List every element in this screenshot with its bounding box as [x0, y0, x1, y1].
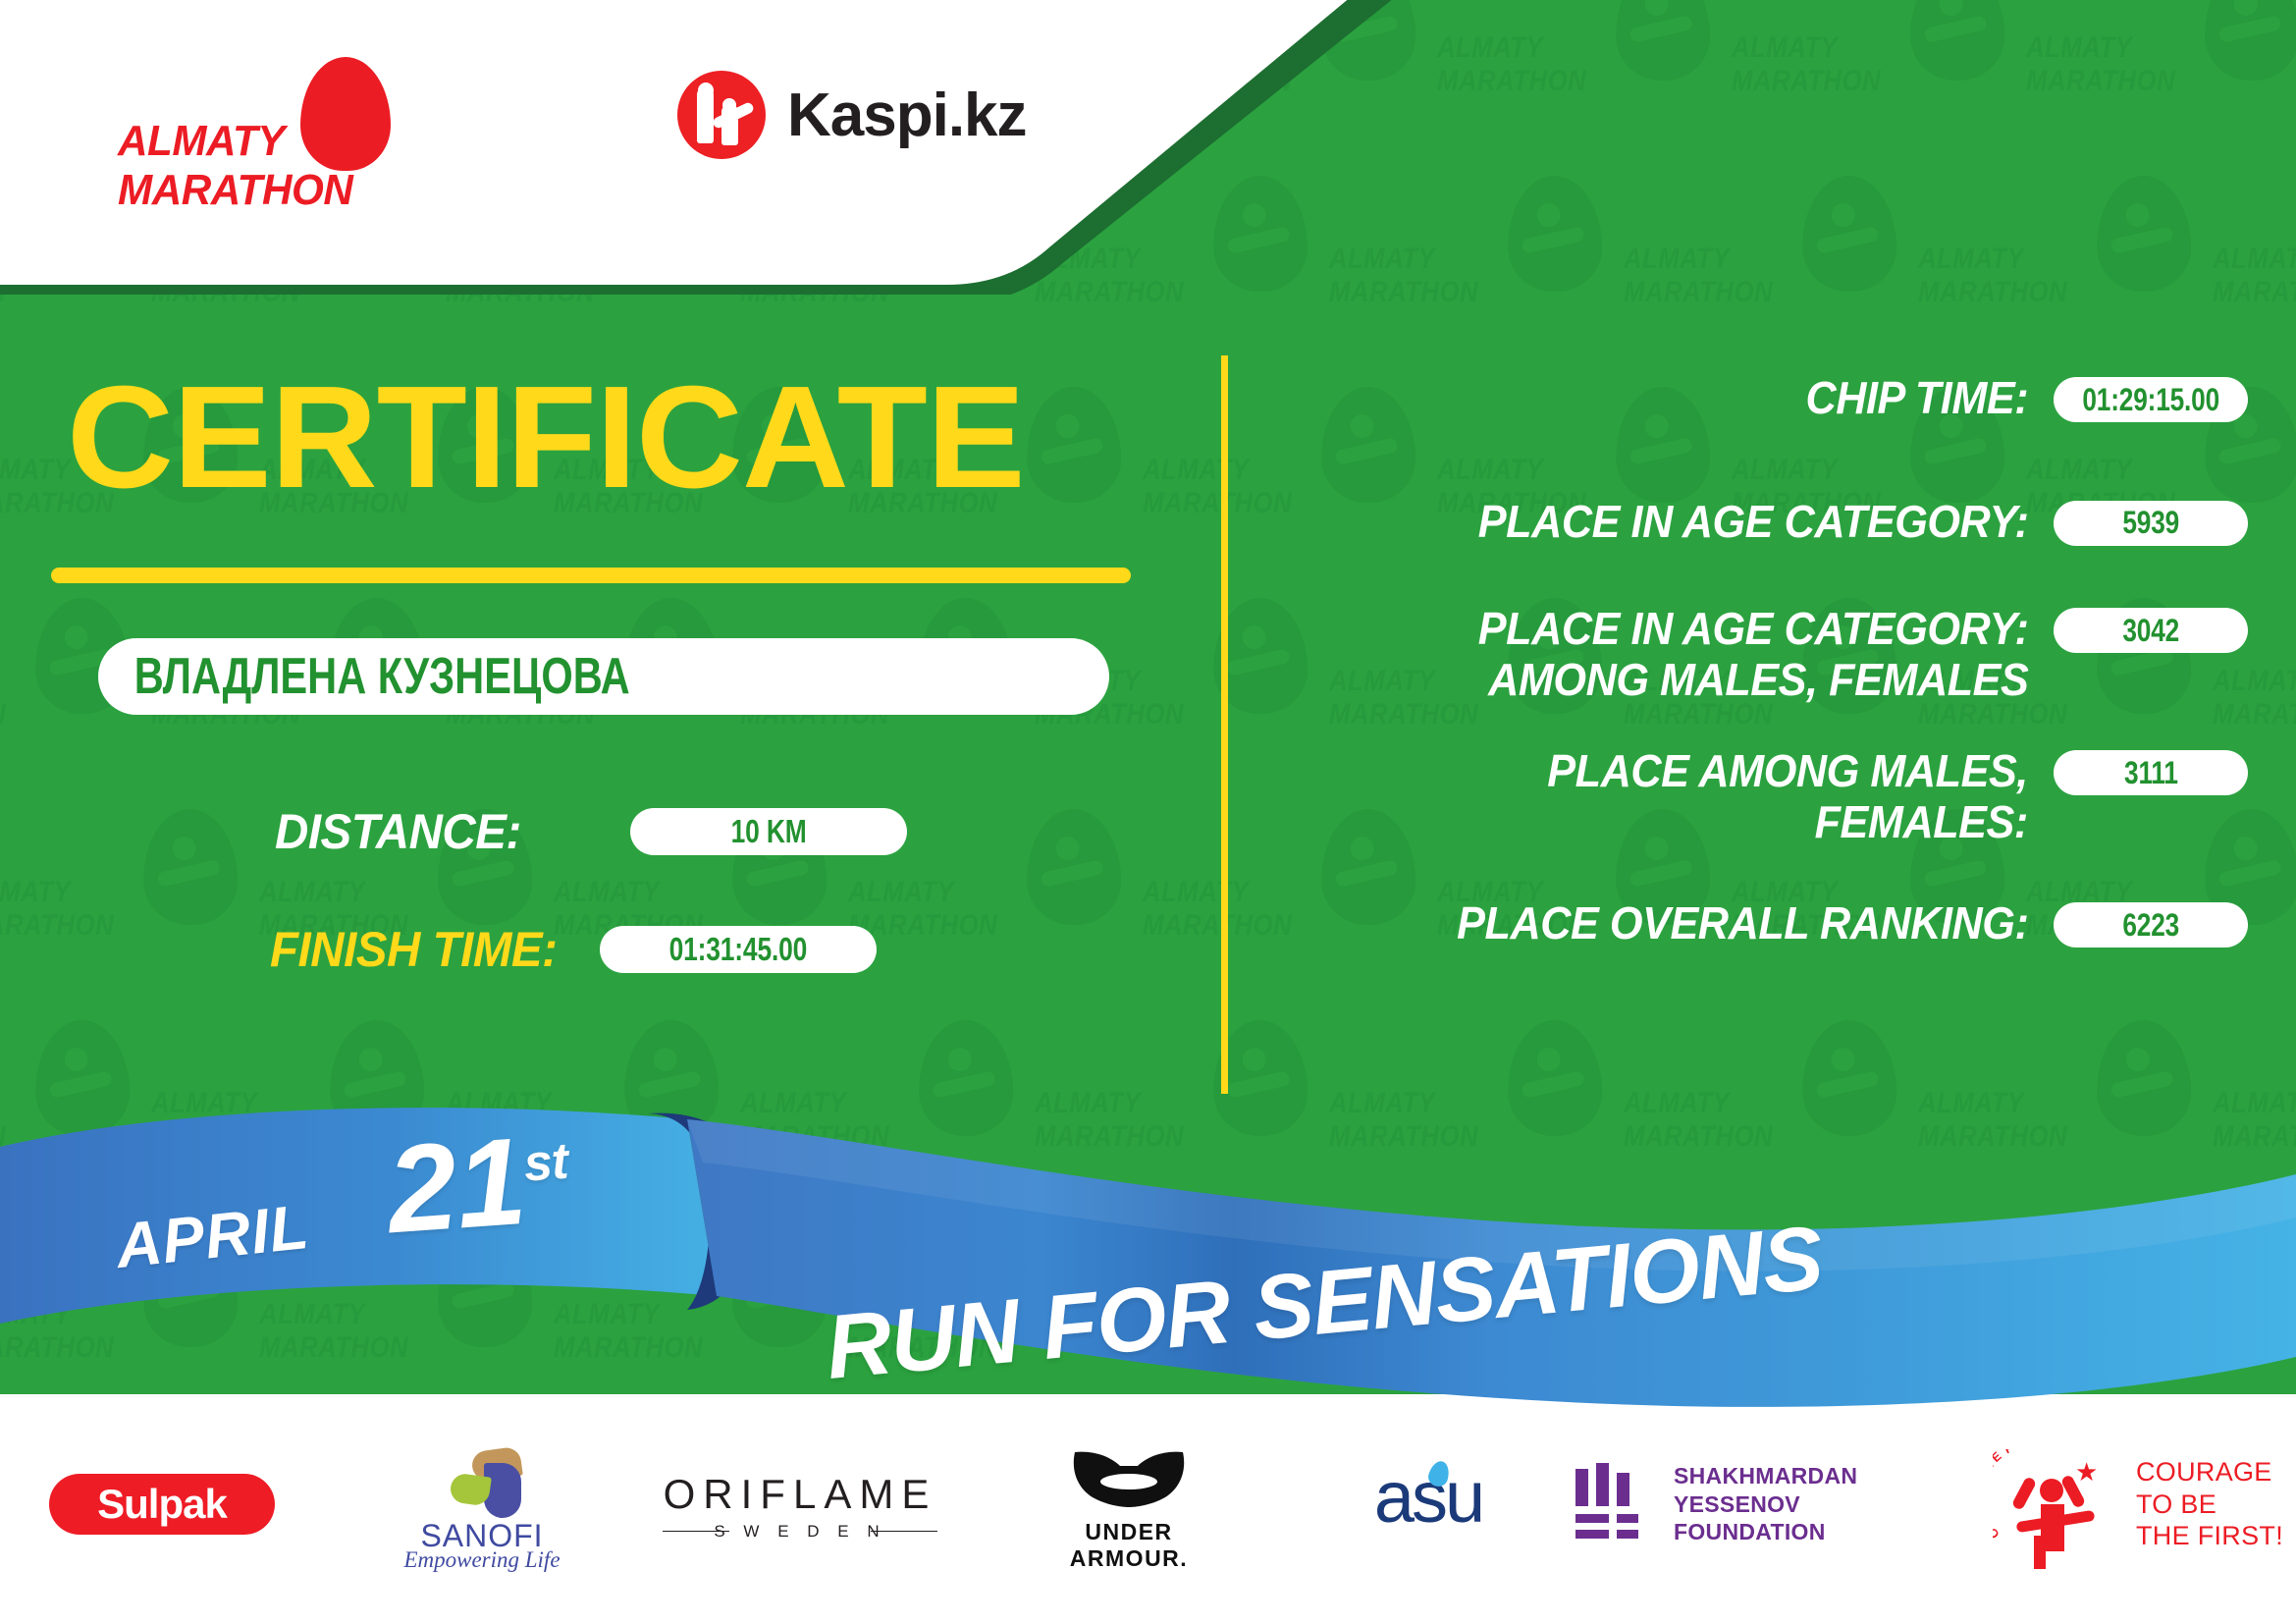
distance-value: 10 KM — [731, 813, 807, 850]
watermark-tile: ALMATYMARATHON — [2022, 0, 2296, 172]
watermark-line1: ALMATY — [0, 878, 71, 907]
oriflame-logo-text: ORIFLAME — [653, 1471, 947, 1518]
watermark-drop-icon — [1507, 175, 1603, 293]
watermark-line1: ALMATY — [2026, 33, 2132, 63]
stat-value-pill: 5939 — [2054, 501, 2248, 546]
watermark-drop-icon — [1615, 0, 1711, 81]
stat-value: 3111 — [2124, 755, 2178, 791]
sulpak-logo: Sulpak — [49, 1474, 275, 1535]
stat-row: CHIP TIME: 01:29:15.00 — [1276, 373, 2248, 424]
kaspi-logo-text: Kaspi.kz — [787, 81, 1027, 150]
sponsor-oriflame: ORIFLAME S W E D E N — [628, 1435, 972, 1573]
stat-value: 01:29:15.00 — [2082, 382, 2219, 418]
watermark-line2: MARATHON — [1918, 278, 2067, 307]
almaty-logo-line2: MARATHON — [118, 169, 352, 212]
watermark-line2: MARATHON — [1624, 278, 1773, 307]
ribbon-day: 21st — [384, 1116, 573, 1253]
stat-value-pill: 3111 — [2054, 750, 2248, 795]
sponsor-sulpak: Sulpak — [0, 1435, 324, 1573]
watermark-line1: ALMATY — [848, 878, 954, 907]
stat-value: 6223 — [2122, 907, 2179, 944]
participant-name-value: ВЛАДЛЕНА КУЗНЕЦОВА — [98, 647, 630, 706]
almaty-marathon-logo: ALMATY MARATHON — [118, 57, 452, 214]
page-title: CERTIFICATE — [67, 365, 1025, 511]
watermark-tile: ALMATYMARATHON — [0, 805, 255, 1016]
finish-time-row: FINISH TIME: 01:31:45.00 — [270, 921, 877, 978]
ribbon-day-number: 21 — [383, 1111, 530, 1259]
yessenov-mark-icon — [1575, 1463, 1654, 1545]
watermark-line2: MARATHON — [1143, 489, 1292, 518]
watermark-tile: ALMATYMARATHON — [2209, 172, 2296, 383]
finish-time-label: FINISH TIME: — [270, 921, 557, 978]
stat-label: PLACE IN AGE CATEGORY: AMONG MALES, FEMA… — [1477, 604, 2028, 705]
watermark-line1: ALMATY — [2213, 244, 2296, 274]
sulpak-logo-text: Sulpak — [97, 1481, 227, 1528]
stats-list: CHIP TIME: 01:29:15.00 PLACE IN AGE CATE… — [1276, 373, 2248, 949]
sponsor-sanofi: SANOFI Empowering Life — [324, 1435, 628, 1573]
watermark-line2: MARATHON — [1143, 911, 1292, 941]
watermark-drop-icon — [1801, 175, 1897, 293]
stat-value-pill: 6223 — [2054, 902, 2248, 947]
stat-label: PLACE IN AGE CATEGORY: — [1477, 497, 2028, 548]
sponsor-asu: asu — [1286, 1435, 1571, 1573]
stat-row: PLACE IN AGE CATEGORY: 5939 — [1276, 497, 2248, 548]
sponsor-courage-fund: CORPORATE FUND ★ COURAGE TO BE THE FIRST… — [1993, 1435, 2287, 1573]
participant-name-field: ВЛАДЛЕНА КУЗНЕЦОВА — [98, 638, 1109, 715]
title-underline — [51, 568, 1131, 583]
watermark-line1: ALMATY — [1143, 878, 1249, 907]
stat-value-pill: 3042 — [2054, 608, 2248, 653]
vertical-divider — [1221, 355, 1228, 1094]
sanofi-logo: SANOFI Empowering Life — [378, 1445, 574, 1563]
finish-time-value-pill: 01:31:45.00 — [600, 926, 877, 973]
yessenov-logo-text: SHAKHMARDAN YESSENOV FOUNDATION — [1674, 1462, 1988, 1546]
distance-value-pill: 10 KM — [630, 808, 907, 855]
watermark-line1: ALMATY — [1624, 244, 1730, 274]
watermark-line1: ALMATY — [554, 878, 660, 907]
courage-figure-icon: CORPORATE FUND ★ — [1993, 1445, 2120, 1563]
stat-row: PLACE IN AGE CATEGORY: AMONG MALES, FEMA… — [1276, 604, 2248, 705]
stat-value: 5939 — [2122, 505, 2179, 541]
stat-label: PLACE OVERALL RANKING: — [1457, 898, 2028, 949]
watermark-line1: ALMATY — [1918, 244, 2024, 274]
watermark-tile: ALMATYMARATHON — [1620, 172, 1914, 383]
event-ribbon — [0, 1100, 2296, 1424]
watermark-line1: ALMATY — [259, 878, 365, 907]
watermark-drop-icon — [1026, 808, 1122, 926]
watermark-line1: ALMATY — [1732, 33, 1838, 63]
watermark-drop-icon — [1909, 0, 2005, 81]
yessenov-logo: SHAKHMARDAN YESSENOV FOUNDATION — [1575, 1450, 1988, 1558]
kaspi-logo: Kaspi.kz — [677, 61, 1027, 169]
watermark-line2: MARATHON — [0, 700, 6, 730]
watermark-line1: ALMATY — [0, 456, 71, 485]
under-armour-icon — [1055, 1450, 1202, 1511]
courage-fund-text: COURAGE TO BE THE FIRST! — [2136, 1456, 2283, 1553]
watermark-drop-icon — [2204, 0, 2296, 81]
watermark-drop-icon — [142, 808, 239, 926]
almaty-logo-line1: ALMATY — [118, 120, 285, 163]
watermark-line2: MARATHON — [2213, 278, 2296, 307]
watermark-line2: MARATHON — [2026, 67, 2175, 96]
under-armour-logo: UNDER ARMOUR. — [1026, 1450, 1232, 1558]
oriflame-tagline: S W E D E N — [653, 1522, 947, 1542]
watermark-tile: ALMATYMARATHON — [1433, 0, 1728, 172]
watermark-line2: MARATHON — [1732, 67, 1881, 96]
courage-fund-logo: CORPORATE FUND ★ COURAGE TO BE THE FIRST… — [1993, 1440, 2287, 1568]
sponsor-bar: Sulpak SANOFI Empowering Life ORIFLAME S… — [0, 1426, 2296, 1583]
stat-value: 3042 — [2122, 613, 2179, 649]
runner-drop-icon — [300, 57, 391, 171]
stat-row: PLACE AMONG MALES, FEMALES: 3111 — [1276, 746, 2248, 847]
star-icon: ★ — [2075, 1459, 2098, 1485]
under-armour-text: UNDER ARMOUR. — [1026, 1519, 1232, 1572]
sponsor-yessenov: SHAKHMARDAN YESSENOV FOUNDATION — [1571, 1435, 1993, 1573]
watermark-drop-icon — [1026, 386, 1122, 504]
watermark-line2: MARATHON — [0, 911, 114, 941]
sanofi-tagline: Empowering Life — [394, 1547, 570, 1573]
kaspi-people-circle-icon — [677, 71, 766, 159]
finish-time-value: 01:31:45.00 — [669, 931, 808, 968]
stat-label: PLACE AMONG MALES, FEMALES: — [1547, 746, 2028, 847]
watermark-line1: ALMATY — [1143, 456, 1249, 485]
asu-logo: asu — [1335, 1455, 1522, 1553]
watermark-tile: ALMATYMARATHON — [1914, 172, 2209, 383]
stat-value-pill: 01:29:15.00 — [2054, 377, 2248, 422]
ribbon-day-ordinal: st — [522, 1133, 569, 1193]
watermark-tile: ALMATYMARATHON — [1728, 0, 2022, 172]
stat-row: PLACE OVERALL RANKING: 6223 — [1276, 898, 2248, 949]
stat-label: CHIP TIME: — [1805, 373, 2028, 424]
watermark-line1: ALMATY — [1437, 33, 1543, 63]
distance-label: DISTANCE: — [275, 803, 521, 860]
sponsor-under-armour: UNDER ARMOUR. — [972, 1435, 1286, 1573]
watermark-line2: MARATHON — [1437, 67, 1586, 96]
watermark-drop-icon — [2096, 175, 2192, 293]
distance-row: DISTANCE: 10 KM — [275, 803, 907, 860]
certificate-page: ALMATYMARATHONALMATYMARATHONALMATYMARATH… — [0, 0, 2296, 1624]
oriflame-logo: ORIFLAME S W E D E N — [653, 1457, 947, 1551]
